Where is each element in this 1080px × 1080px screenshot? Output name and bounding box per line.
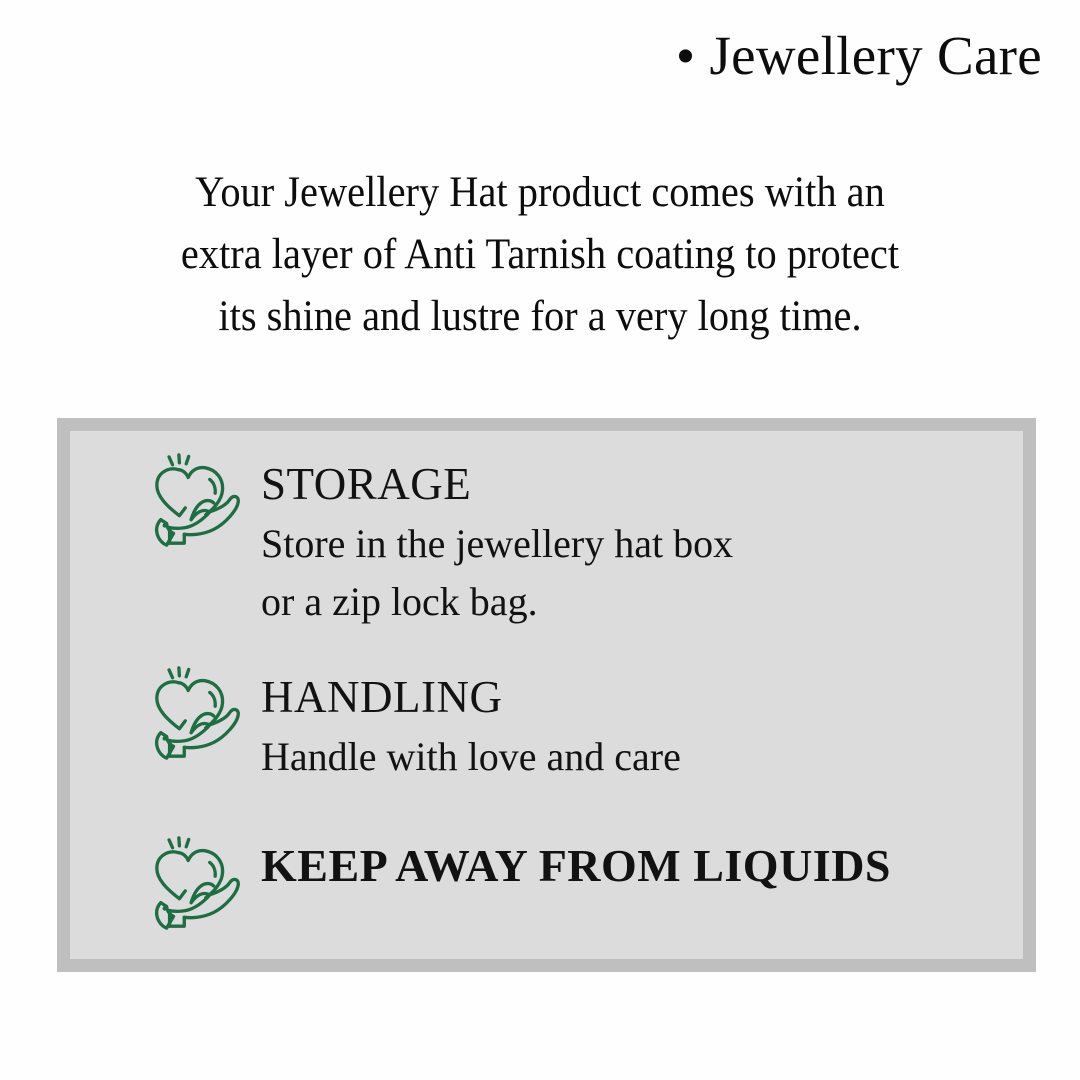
- care-item-description-line: or a zip lock bag.: [261, 573, 733, 631]
- care-item-storage: STORAGE Store in the jewellery hat box o…: [149, 453, 733, 631]
- intro-line: Your Jewellery Hat product comes with an: [89, 162, 991, 224]
- care-item-title: STORAGE: [261, 459, 471, 509]
- care-item-description-line: Handle with love and care: [261, 728, 681, 786]
- intro-line: extra layer of Anti Tarnish coating to p…: [89, 224, 991, 286]
- care-instructions-box: STORAGE Store in the jewellery hat box o…: [57, 418, 1036, 972]
- care-item-description-line: Store in the jewellery hat box: [261, 515, 733, 573]
- intro-paragraph: Your Jewellery Hat product comes with an…: [89, 162, 991, 348]
- care-instructions-list: STORAGE Store in the jewellery hat box o…: [70, 431, 1023, 959]
- heart-in-hand-icon: [149, 453, 247, 551]
- care-item-keep-away-from-liquids: KEEP AWAY FROM LIQUIDS: [149, 836, 891, 934]
- heart-in-hand-icon: [149, 666, 247, 764]
- care-item-description: Handle with love and care: [261, 728, 681, 786]
- heart-in-hand-icon: [149, 836, 247, 934]
- page-title: • Jewellery Care: [676, 26, 1042, 87]
- care-item-description: Store in the jewellery hat box or a zip …: [261, 515, 733, 631]
- care-item-handling: HANDLING Handle with love and care: [149, 666, 681, 786]
- care-item-title: KEEP AWAY FROM LIQUIDS: [261, 840, 891, 891]
- care-item-text: STORAGE Store in the jewellery hat box o…: [261, 453, 733, 631]
- intro-line: its shine and lustre for a very long tim…: [89, 286, 991, 348]
- care-item-text: KEEP AWAY FROM LIQUIDS: [261, 836, 891, 892]
- care-item-title: HANDLING: [261, 672, 502, 722]
- care-item-text: HANDLING Handle with love and care: [261, 666, 681, 786]
